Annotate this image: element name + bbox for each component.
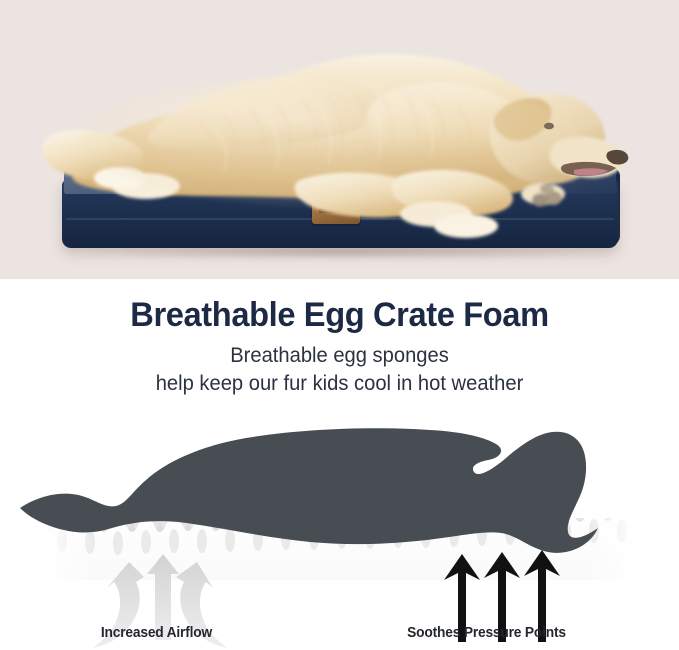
diagram-captions: Increased Airflow Soothes Pressure Point… xyxy=(0,625,679,650)
hero-photo-panel xyxy=(0,0,679,279)
subtitle-line-1: Breathable egg sponges xyxy=(14,335,666,370)
subtitle-line-2: help keep our fur kids cool in hot weath… xyxy=(14,370,666,398)
photo-stage xyxy=(0,0,679,279)
caption-increased-airflow: Increased Airflow xyxy=(101,625,212,641)
caption-soothes-pressure-points: Soothes Pressure Points xyxy=(407,625,566,641)
foam-cross-section-diagram xyxy=(0,410,679,650)
page-title: Breathable Egg Crate Foam xyxy=(14,279,666,335)
headline-block: Breathable Egg Crate Foam Breathable egg… xyxy=(0,279,679,410)
golden-retriever-photo-illustration xyxy=(0,0,679,279)
product-infographic-page: Breathable Egg Crate Foam Breathable egg… xyxy=(0,0,679,650)
